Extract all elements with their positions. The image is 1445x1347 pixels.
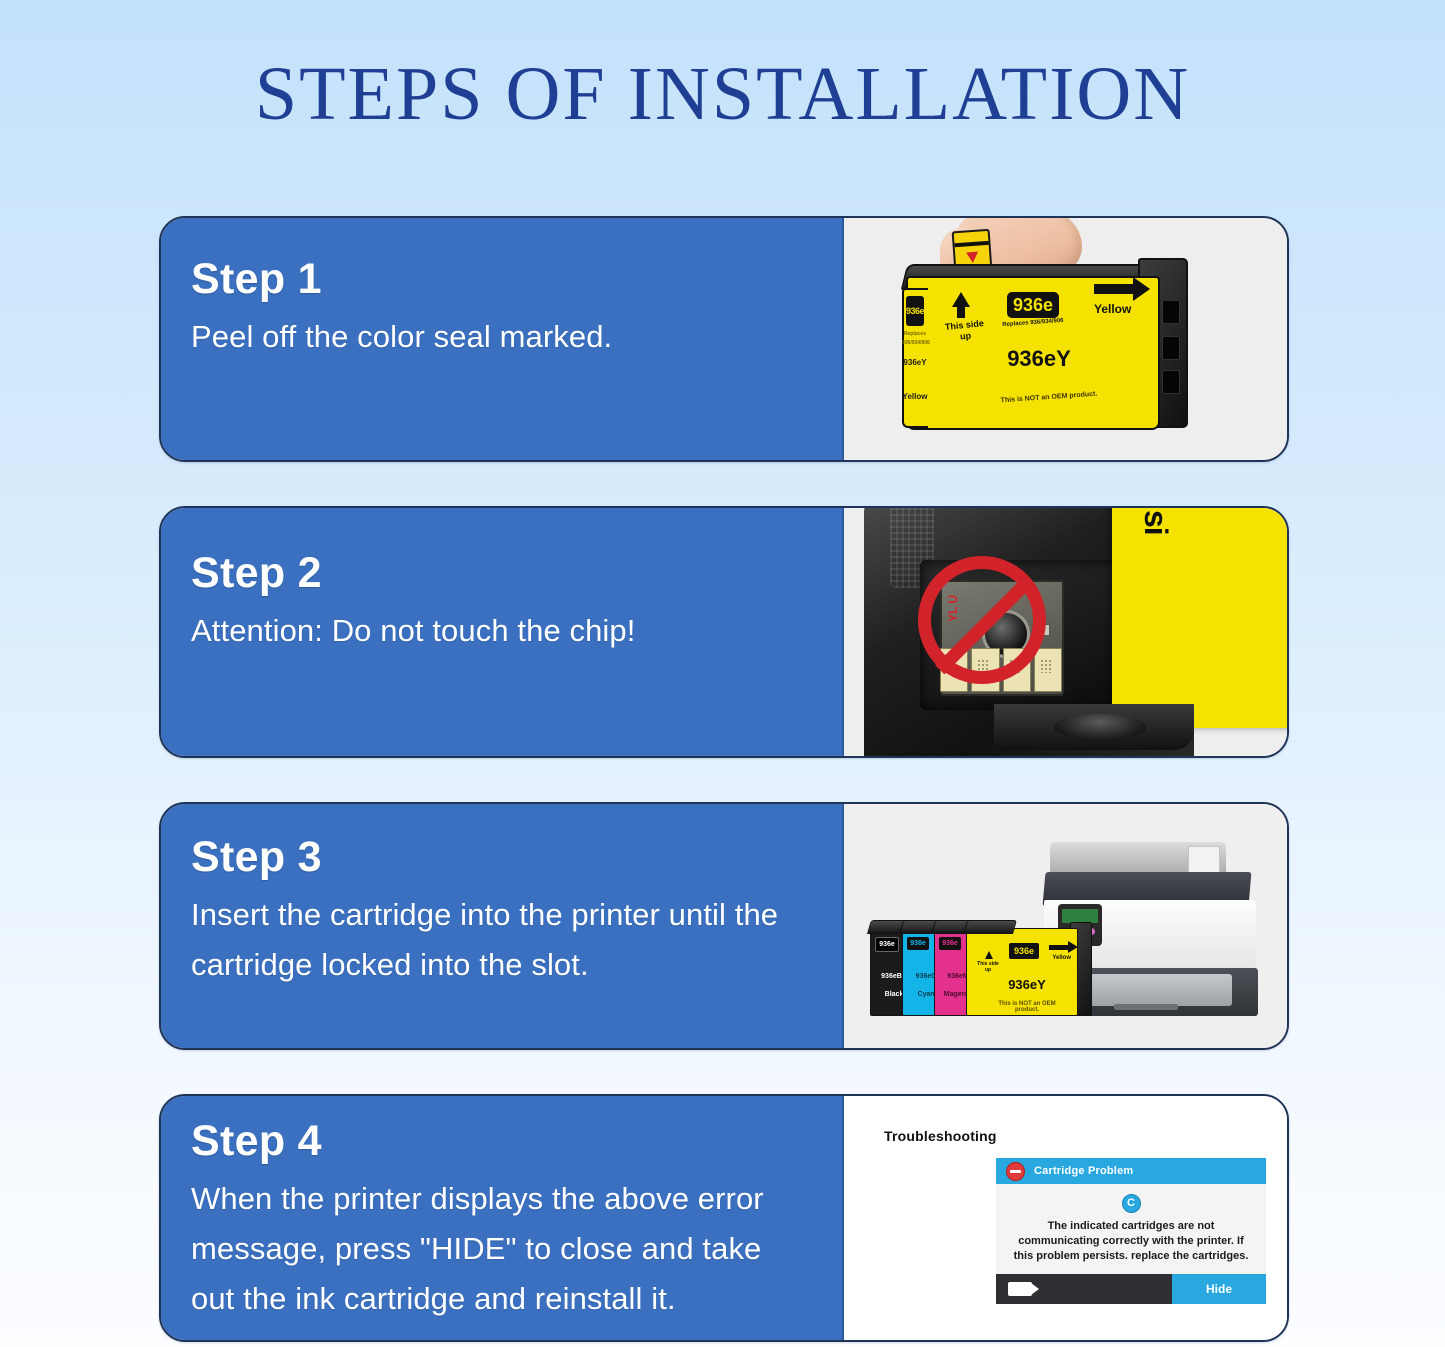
- step-card-4: Step 4 When the printer displays the abo…: [159, 1094, 1289, 1342]
- step-card-3: Step 3 Insert the cartridge into the pri…: [159, 802, 1289, 1050]
- step-1-description: Peel off the color seal marked.: [191, 312, 812, 362]
- step-1-text-panel: Step 1 Peel off the color seal marked.: [161, 218, 844, 460]
- cartridge-side-badge: 936e: [906, 296, 924, 326]
- dialog-help-video-area[interactable]: [996, 1274, 1172, 1304]
- cartridge-model: 936eY: [984, 346, 1094, 372]
- step-2-description: Attention: Do not touch the chip!: [191, 606, 812, 656]
- cartridge-black-tag: 936e: [875, 937, 899, 952]
- troubleshooting-illustration: Troubleshooting Cartridge Problem C The …: [844, 1096, 1287, 1340]
- cartridge-cyan-tag: 936e: [907, 937, 929, 950]
- yellow-cartridge-illustration: 936e Replaces 936/934/906 936eY Yellow T…: [844, 218, 1287, 460]
- step-2-label: Step 2: [191, 548, 812, 598]
- dialog-footer: Hide: [996, 1274, 1266, 1304]
- cartridge-yellow-model: 936eY: [997, 977, 1057, 992]
- troubleshooting-title: Troubleshooting: [884, 1128, 997, 1144]
- dialog-header: Cartridge Problem: [996, 1158, 1266, 1184]
- error-stop-icon: [1006, 1162, 1025, 1181]
- cartridge-yellow-badge: 936e: [1009, 943, 1039, 959]
- cartridge-side-badge-sub: Replaces 936/934/906: [902, 330, 928, 348]
- step-card-2: Step 2 Attention: Do not touch the chip!…: [159, 506, 1289, 758]
- cartridge-yellow-panel: si: [1112, 508, 1287, 728]
- step-4-description: When the printer displays the above erro…: [191, 1174, 812, 1324]
- up-arrow-stem-icon: [957, 304, 965, 318]
- partial-label-text: si: [1137, 510, 1174, 535]
- dialog-body: C The indicated cartridges are not commu…: [996, 1184, 1266, 1274]
- dialog-message: The indicated cartridges are not communi…: [1008, 1219, 1254, 1264]
- printer-lid: [1050, 842, 1226, 876]
- cartridge-problem-dialog: Cartridge Problem C The indicated cartri…: [996, 1158, 1266, 1304]
- cartridge-yellow-disclaimer: This is NOT an OEM product.: [997, 1001, 1057, 1013]
- hide-button[interactable]: Hide: [1172, 1274, 1266, 1304]
- chip-closeup-illustration: YL U W si: [844, 508, 1287, 756]
- cartridge-side-color-name: Yellow: [902, 392, 928, 401]
- right-arrow-icon: [1094, 284, 1134, 294]
- prohibition-no-touch-icon: [918, 556, 1046, 684]
- dialog-header-label: Cartridge Problem: [1034, 1165, 1133, 1177]
- cartridge-yellow-orientation-text: This side up: [977, 961, 999, 973]
- cartridge-magenta-tag: 936e: [939, 937, 961, 950]
- cartridge-set: 936e 936eBK Black 936e 936eC Cyan: [870, 928, 1060, 1028]
- cartridge-side-model: 936eY: [902, 358, 928, 367]
- cyan-cartridge-badge-icon: C: [1122, 1194, 1141, 1213]
- page-title: STEPS OF INSTALLATION: [0, 52, 1445, 136]
- step-4-label: Step 4: [191, 1116, 812, 1166]
- cartridge-color-name: Yellow: [1094, 302, 1131, 316]
- step-4-text-panel: Step 4 When the printer displays the abo…: [161, 1096, 844, 1340]
- installation-steps-page: STEPS OF INSTALLATION Step 1 Peel off th…: [0, 0, 1445, 1347]
- right-arrow-icon: [1049, 945, 1069, 950]
- step-1-image: 936e Replaces 936/934/906 936eY Yellow T…: [844, 218, 1287, 460]
- cartridge-yellow-arrow-label: Yellow: [1052, 955, 1071, 961]
- up-arrow-icon: [985, 951, 993, 959]
- step-card-1: Step 1 Peel off the color seal marked.: [159, 216, 1289, 462]
- step-3-description: Insert the cartridge into the printer un…: [191, 890, 812, 990]
- step-4-image: Troubleshooting Cartridge Problem C The …: [844, 1096, 1287, 1340]
- cartridge-yellow-cap: [963, 920, 1017, 934]
- cartridge-badge: 936e: [1007, 292, 1059, 318]
- step-1-label: Step 1: [191, 254, 812, 304]
- step-2-text-panel: Step 2 Attention: Do not touch the chip!: [161, 508, 844, 756]
- cartridge-yellow: This side up 936e Yellow 936eY This is N…: [966, 928, 1078, 1016]
- printer-screen: [1062, 909, 1098, 923]
- step-2-image: YL U W si: [844, 508, 1287, 756]
- step-3-image: 936e 936eBK Black 936e 936eC Cyan: [844, 804, 1287, 1048]
- steps-list: Step 1 Peel off the color seal marked.: [159, 216, 1289, 1342]
- step-3-label: Step 3: [191, 832, 812, 882]
- cartridge-lower-lip: [994, 704, 1194, 750]
- cartridges-and-printer-illustration: 936e 936eBK Black 936e 936eC Cyan: [844, 804, 1287, 1048]
- video-camera-icon: [1008, 1282, 1032, 1296]
- step-3-text-panel: Step 3 Insert the cartridge into the pri…: [161, 804, 844, 1048]
